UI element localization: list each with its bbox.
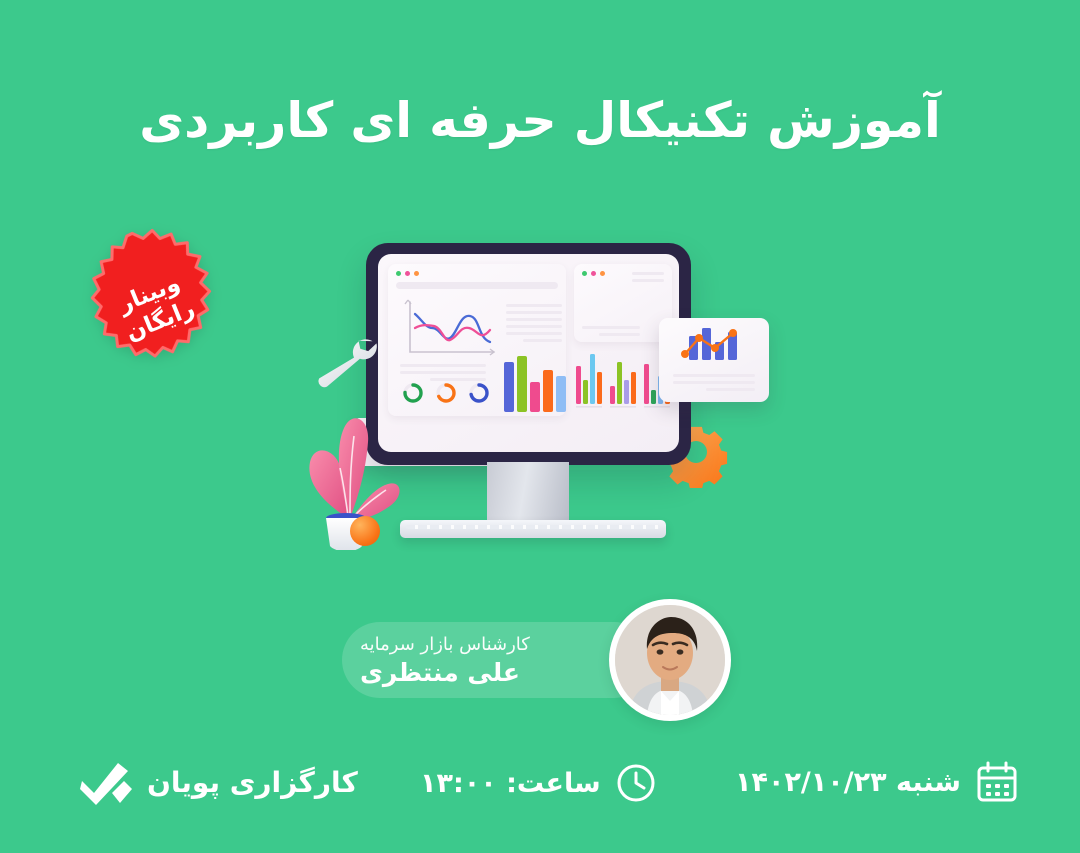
calendar-icon [975,760,1019,804]
side-pane-top-lines [632,272,664,282]
event-time: ساعت: ۱۳:۰۰ [420,762,657,804]
window-dots [396,271,419,276]
donut-chart-blue [468,382,490,404]
brand-logo: کارگزاری پویان [78,757,358,807]
orange-sphere [350,516,380,546]
floating-card-lines [673,374,755,391]
clock-icon [615,762,657,804]
event-date-text: شنبه ۱۴۰۲/۱۰/۲۳ [735,767,961,798]
side-window-dots [582,271,605,276]
person-portrait-icon [615,605,725,715]
event-time-text: ساعت: ۱۳:۰۰ [420,768,601,799]
donut-chart-group [402,382,490,404]
monitor-stand-neck [487,462,569,524]
side-dot-orange [600,271,605,276]
window-dot-green [396,271,401,276]
main-pane-text-lines [506,304,562,342]
floating-chart-card [659,318,769,402]
side-dot-pink [591,271,596,276]
free-webinar-badge: وبینار رایگان [55,208,255,408]
speaker-info: کارشناس بازار سرمایه علی منتظری [360,624,600,696]
bar-line-chart-icon [659,318,769,368]
line-chart [402,298,498,360]
monitor-screen [378,254,679,452]
side-pane-bottom-lines [582,326,640,336]
event-date: شنبه ۱۴۰۲/۱۰/۲۳ [735,760,1019,804]
window-dot-pink [405,271,410,276]
badge-label: وبینار رایگان [51,204,259,412]
grouped-bar-chart [574,350,672,410]
wrench-icon [307,334,384,393]
pouyan-brokerage-mark-icon [78,757,134,807]
address-bar [396,282,558,289]
page-title: آموزش تکنیکال حرفه ای کاربردی [0,92,1080,149]
dashboard-main-pane [388,264,566,416]
avatar-photo [615,605,725,715]
bar-chart [502,356,572,414]
speaker-role: کارشناس بازار سرمایه [360,634,530,655]
avatar [609,599,731,721]
dashboard-side-pane [574,264,672,342]
main-pane-lower-lines [400,364,486,381]
speaker-name: علی منتظری [360,658,520,687]
monitor-illustration [366,243,691,465]
donut-chart-orange [435,382,457,404]
side-dot-green [582,271,587,276]
brand-name: کارگزاری پویان [147,766,358,799]
poster-canvas: آموزش تکنیکال حرفه ای کاربردی وبینار رای… [0,0,1080,853]
keyboard [400,520,666,538]
window-dot-orange [414,271,419,276]
